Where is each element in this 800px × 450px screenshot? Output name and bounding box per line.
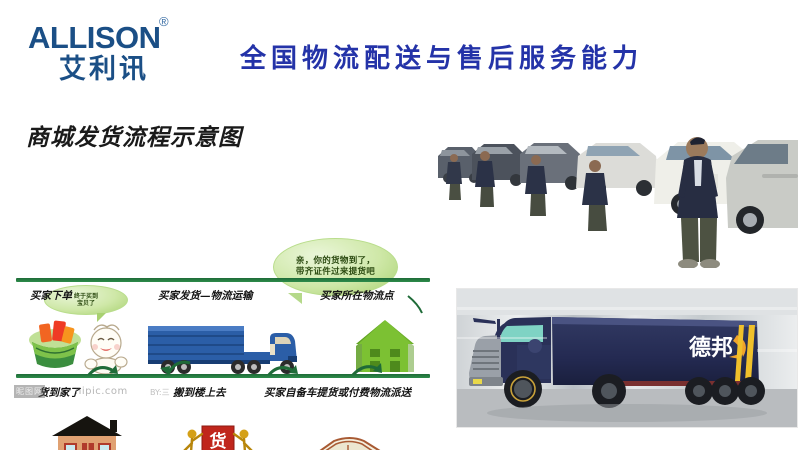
shipping-flow-diagram: 商城发货流程示意图 终于买到 宝贝了 亲，你的货物到了， 带齐证件过来提货吧 [8,110,438,410]
flow-label-delivered-home: 货到家了 [38,385,80,400]
flow-diagram-heading: 商城发货流程示意图 [26,118,242,152]
svg-text:货: 货 [210,431,227,450]
flow-baseline-bottom [16,374,430,378]
flow-label-carry-upstairs: 搬到楼上去 [173,385,226,400]
buyer-speech-text: 终于买到 宝贝了 [74,293,98,308]
flow-arrow-4-icon [156,358,192,378]
deppon-logistics-truck-photo: 德邦 [456,288,798,428]
logo-wordmark-latin: ALLISON [28,20,161,55]
logo-wordmark-chinese: 艾利讯 [28,56,180,84]
flow-label-shipping: 买家发货—物流运输 [158,288,253,303]
registered-trademark-icon: ® [159,14,169,29]
watermark-author: BY:三 [150,387,170,398]
allison-logo: ALLISON ® 艾利讯 [28,22,208,84]
sketch-car-icon [298,426,402,450]
station-speech-text: 亲，你的货物到了， 带齐证件过来提货吧 [296,256,375,277]
slide-canvas: ALLISON ® 艾利讯 全国物流配送与售后服务能力 商城发货流程示意图 终于… [0,0,800,450]
slide-header: ALLISON ® 艾利讯 全国物流配送与售后服务能力 [0,0,800,100]
page-title: 全国物流配送与售后服务能力 [240,38,760,75]
flow-baseline-top [16,278,430,282]
flow-label-order: 买家下单 [30,288,72,303]
station-connector-icon [406,294,430,316]
service-fleet-photo: SERVICE 400-000-0000 [432,116,798,268]
flow-label-station: 买家所在物流点 [320,288,394,303]
flow-label-self-pickup: 买家自备车提货或付费物流派送 [264,385,411,400]
porters-carrying-goods-icon: 货 [176,418,260,450]
svg-text:德邦: 德邦 [689,335,733,361]
